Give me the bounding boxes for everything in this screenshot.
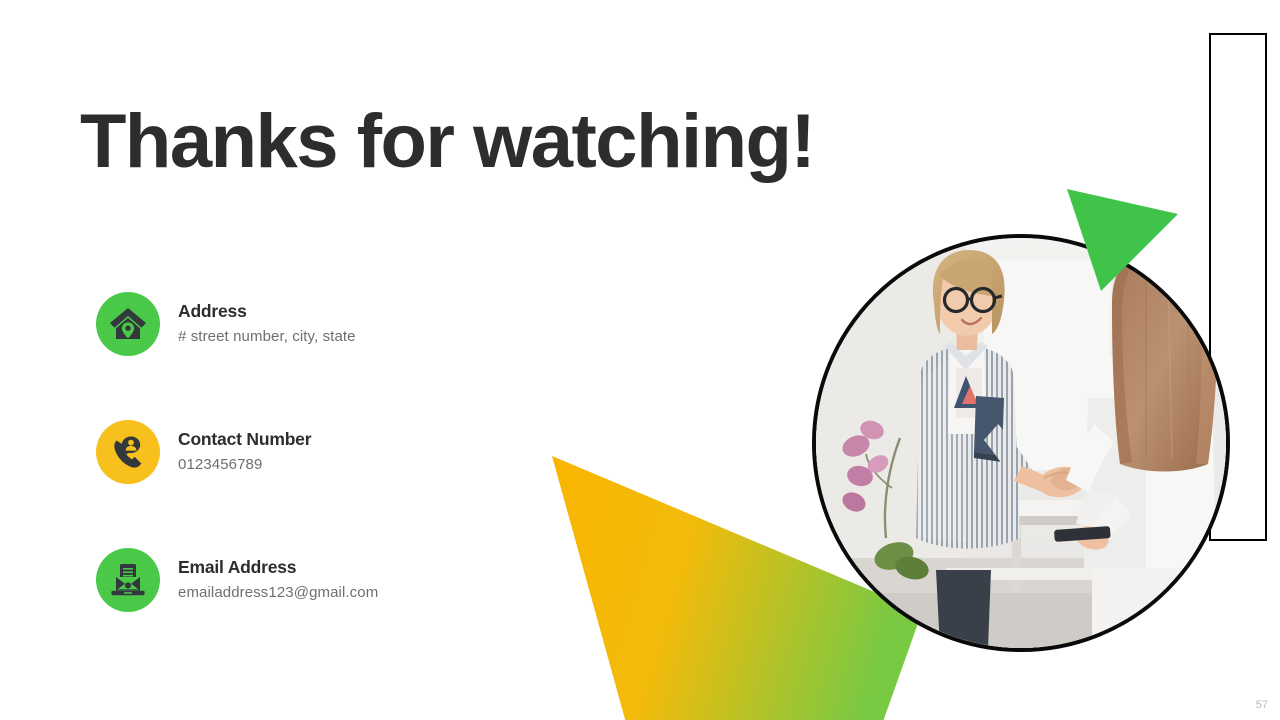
- address-text-block: Address # street number, city, state: [178, 300, 356, 348]
- address-badge: [96, 292, 160, 356]
- email-title: Email Address: [178, 556, 378, 580]
- contact-list: Address # street number, city, state Con…: [96, 292, 656, 676]
- contact-row-phone: Contact Number 0123456789: [96, 420, 656, 484]
- slide-canvas: Thanks for watching! Address # street nu…: [0, 0, 1280, 720]
- address-value: # street number, city, state: [178, 326, 356, 349]
- address-title: Address: [178, 300, 356, 324]
- home-location-icon: [108, 304, 148, 344]
- phone-value: 0123456789: [178, 454, 311, 477]
- laptop-email-icon: [108, 560, 148, 600]
- phone-title: Contact Number: [178, 428, 311, 452]
- contact-row-address: Address # street number, city, state: [96, 292, 656, 356]
- email-text-block: Email Address emailaddress123@gmail.com: [178, 556, 378, 604]
- phone-badge: [96, 420, 160, 484]
- page-number: 57: [1256, 699, 1268, 711]
- page-title: Thanks for watching!: [80, 104, 814, 180]
- green-triangle: [1050, 175, 1200, 305]
- email-badge: [96, 548, 160, 612]
- phone-contact-icon: [108, 432, 148, 472]
- email-value: emailaddress123@gmail.com: [178, 582, 378, 605]
- contact-row-email: Email Address emailaddress123@gmail.com: [96, 548, 656, 612]
- phone-text-block: Contact Number 0123456789: [178, 428, 311, 476]
